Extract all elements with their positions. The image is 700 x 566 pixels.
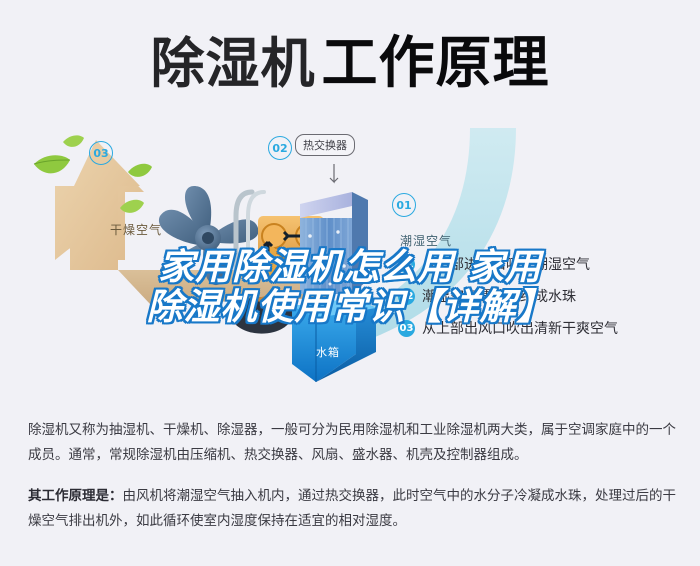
page-title: 除湿机 工作原理 bbox=[0, 28, 700, 100]
page-title-part1: 除湿机 bbox=[151, 35, 316, 93]
step-item-01: 01 从下部进风口吸入潮湿空气 bbox=[398, 248, 698, 280]
body-paragraph-1: 除湿机又称为抽湿机、干燥机、除湿器，一般可分为民用除湿机和工业除湿机两大类，属于… bbox=[28, 418, 676, 468]
step-number-01: 01 bbox=[398, 256, 415, 273]
page-title-part2: 工作原理 bbox=[322, 35, 550, 93]
step-text-02: 潮湿空气遇冷凝结成水珠 bbox=[422, 286, 576, 306]
step-item-03: 03 从上部出风口吹出清新干爽空气 bbox=[398, 312, 698, 344]
badge-02: 02 bbox=[268, 136, 292, 160]
step-text-03: 从上部出风口吹出清新干爽空气 bbox=[422, 318, 618, 338]
body-paragraph-2: 其工作原理是：由风机将潮湿空气抽入机内，通过热交换器，此时空气中的水分子冷凝成水… bbox=[28, 484, 676, 534]
body-paragraph-2-rest: 由风机将潮湿空气抽入机内，通过热交换器，此时空气中的水分子冷凝成水珠，处理过后的… bbox=[28, 488, 676, 529]
heat-exchanger-block bbox=[300, 164, 368, 294]
article-body: 除湿机又称为抽湿机、干燥机、除湿器，一般可分为民用除湿机和工业除湿机两大类，属于… bbox=[28, 418, 676, 550]
step-item-02: 02 潮湿空气遇冷凝结成水珠 bbox=[398, 280, 698, 312]
dry-air-label: 干燥空气 bbox=[110, 221, 162, 238]
working-principle-illustration: 03 02 01 热交换器 干燥空气 潮湿空气 水箱 01 从下部进风口吸入潮湿… bbox=[0, 120, 700, 405]
heat-exchanger-callout: 热交换器 bbox=[295, 134, 355, 156]
water-tank-label: 水箱 bbox=[316, 344, 340, 360]
step-text-01: 从下部进风口吸入潮湿空气 bbox=[422, 254, 590, 274]
step-number-03: 03 bbox=[398, 320, 415, 337]
step-list: 01 从下部进风口吸入潮湿空气 02 潮湿空气遇冷凝结成水珠 03 从上部出风口… bbox=[398, 248, 698, 344]
water-tank bbox=[292, 298, 376, 382]
article-page: 除湿机 工作原理 bbox=[0, 0, 700, 566]
body-paragraph-2-lead: 其工作原理是： bbox=[28, 488, 123, 504]
humid-air-label: 潮湿空气 bbox=[400, 232, 452, 249]
badge-03: 03 bbox=[89, 141, 113, 165]
step-number-02: 02 bbox=[398, 288, 415, 305]
badge-01: 01 bbox=[392, 193, 416, 217]
drip-tray bbox=[230, 297, 294, 333]
